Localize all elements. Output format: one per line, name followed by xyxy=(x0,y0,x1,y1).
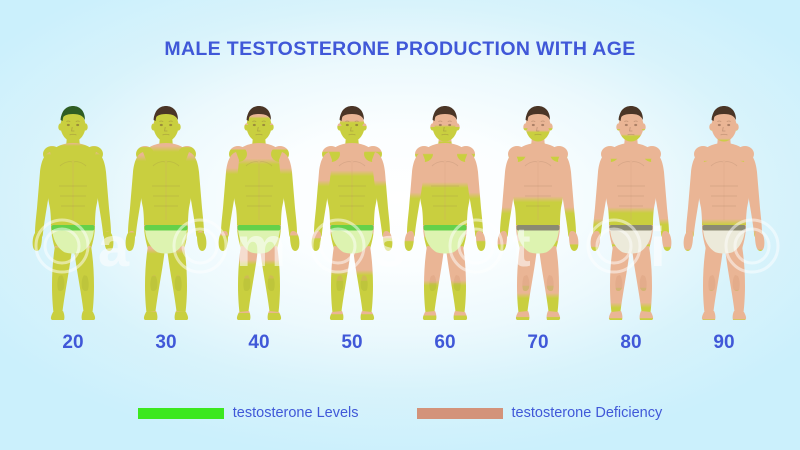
age-label-40: 40 xyxy=(212,332,306,354)
legend-label-testosterone-levels: testosterone Levels xyxy=(233,405,359,421)
legend-item-testosterone-deficiency: testosterone Deficiency xyxy=(417,405,663,421)
age-label-20: 20 xyxy=(26,332,120,354)
page-title: MALE TESTOSTERONE PRODUCTION WITH AGE xyxy=(0,38,800,61)
body-figure-age-80 xyxy=(584,100,678,320)
body-figure-age-20 xyxy=(26,100,120,320)
legend-label-testosterone-deficiency: testosterone Deficiency xyxy=(512,405,663,421)
age-label-80: 80 xyxy=(584,332,678,354)
age-label-90: 90 xyxy=(677,332,771,354)
figure-row xyxy=(0,100,800,320)
body-figure-age-70 xyxy=(491,100,585,320)
age-label-70: 70 xyxy=(491,332,585,354)
age-label-row: 2030405060708090 xyxy=(0,332,800,360)
body-figure-age-90 xyxy=(677,100,771,320)
age-label-60: 60 xyxy=(398,332,492,354)
age-label-50: 50 xyxy=(305,332,399,354)
testosterone-age-diagram: MALE TESTOSTERONE PRODUCTION WITH AGE xyxy=(0,0,800,450)
body-figure-age-50 xyxy=(305,100,399,320)
body-figure-age-40 xyxy=(212,100,306,320)
age-label-30: 30 xyxy=(119,332,213,354)
legend-item-testosterone-levels: testosterone Levels xyxy=(138,405,359,421)
legend: testosterone Levels testosterone Deficie… xyxy=(0,405,800,421)
legend-swatch-testosterone-levels xyxy=(138,408,224,419)
body-figure-age-60 xyxy=(398,100,492,320)
body-figure-age-30 xyxy=(119,100,213,320)
legend-swatch-testosterone-deficiency xyxy=(417,408,503,419)
